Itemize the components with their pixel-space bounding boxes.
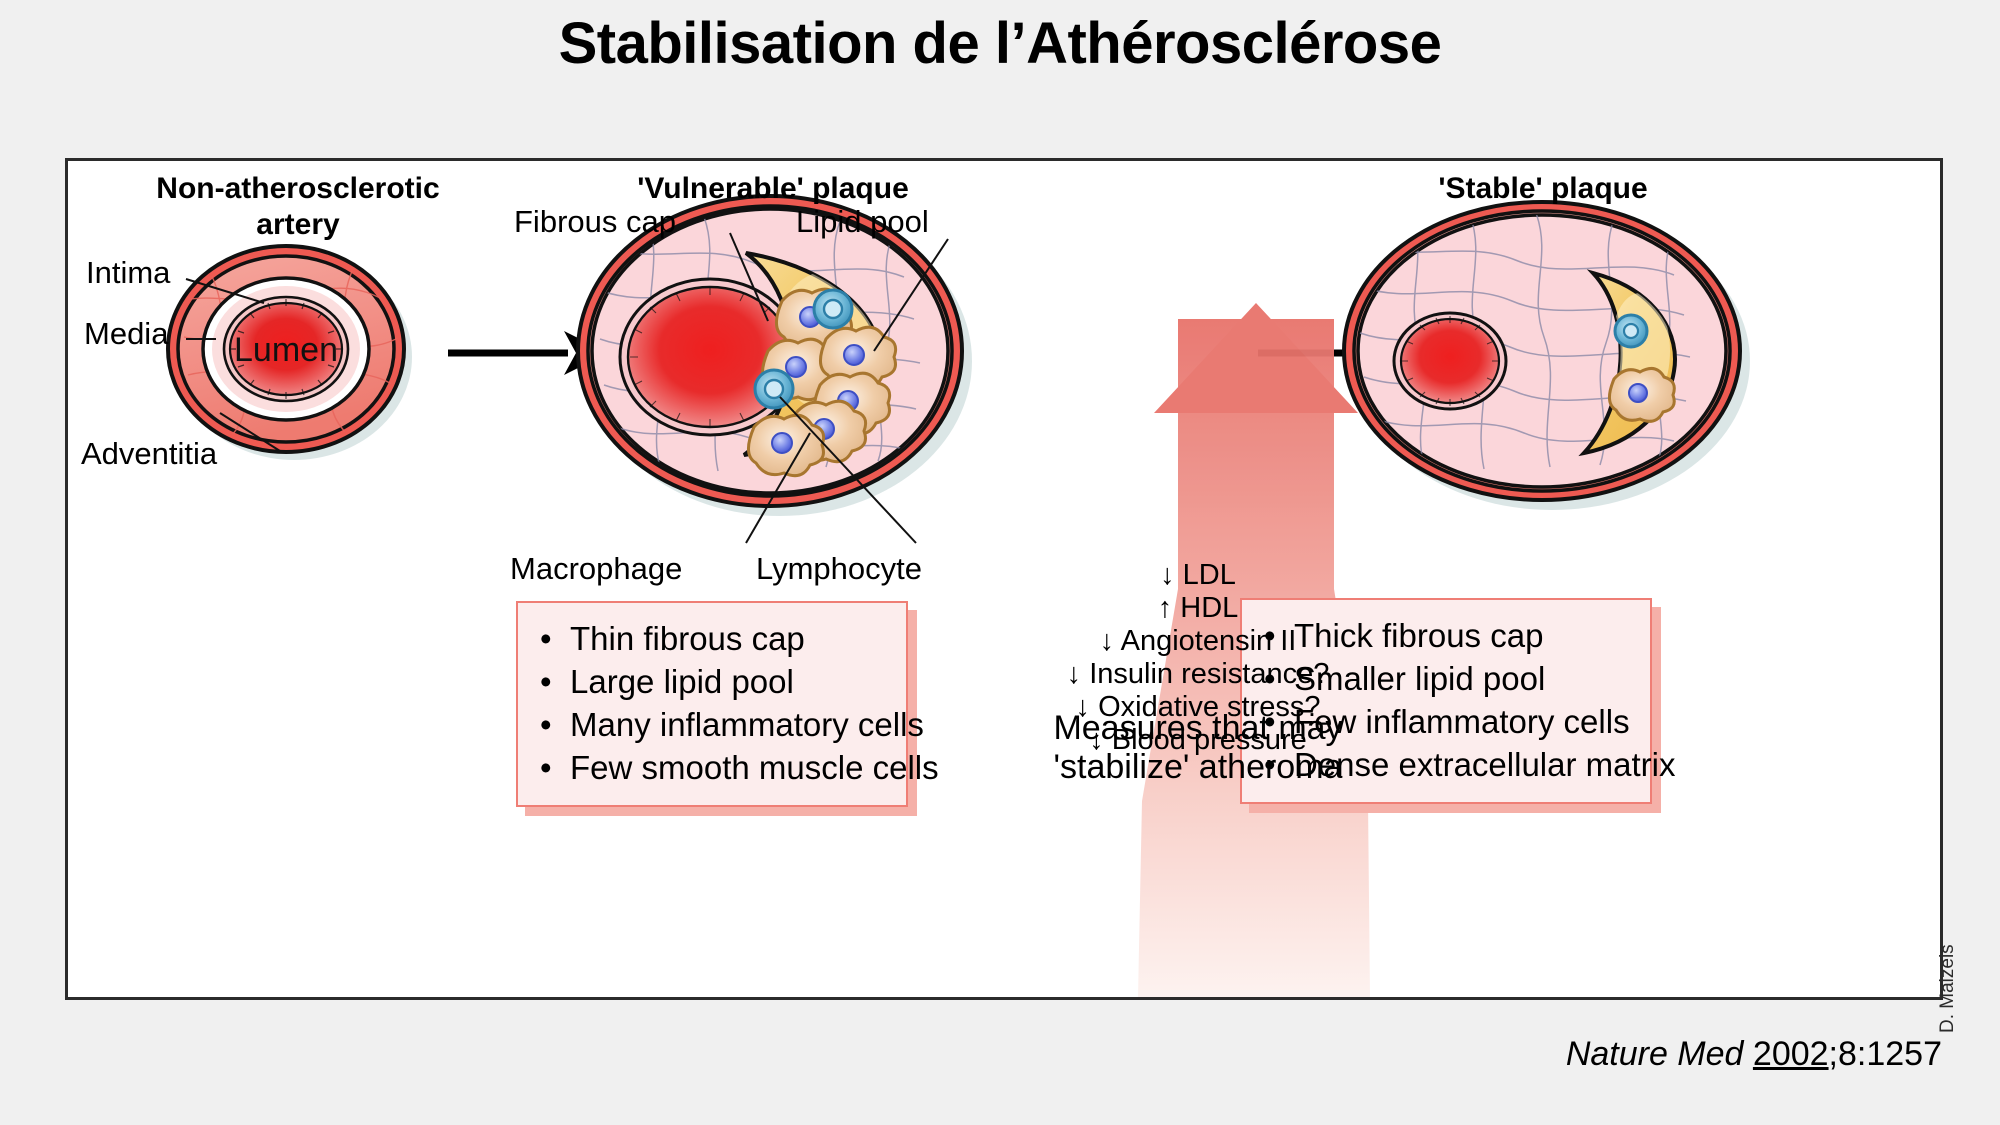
vulnerable-feature-list: Thin fibrous cap Large lipid pool Many i…: [540, 617, 884, 789]
label-adventitia: Adventitia: [81, 436, 217, 472]
citation: Nature Med 2002;8:1257: [1566, 1035, 1942, 1074]
panel-heading-normal-line2: artery: [256, 208, 339, 241]
citation-locator: ;8:1257: [1829, 1035, 1942, 1073]
citation-year: 2002: [1753, 1035, 1829, 1073]
list-item: Few smooth muscle cells: [540, 746, 884, 789]
label-lipid-pool: Lipid pool: [796, 204, 929, 240]
measure-line: ↑ HDL: [1028, 592, 1368, 625]
measure-line: ↓ Insulin resistance?: [1028, 658, 1368, 691]
stabilizing-measures-caption: Measures that may 'stabilize' atheroma: [1013, 709, 1383, 787]
measure-label: Insulin resistance?: [1089, 658, 1329, 690]
vulnerable-plaque-features-box: Thin fibrous cap Large lipid pool Many i…: [516, 601, 908, 807]
caption-line2: 'stabilize' atheroma: [1054, 748, 1343, 786]
measure-label: HDL: [1180, 592, 1238, 624]
citation-journal: Nature Med: [1566, 1035, 1753, 1073]
label-fibrous-cap: Fibrous cap: [514, 204, 676, 240]
label-intima: Intima: [86, 255, 170, 291]
measure-label: LDL: [1183, 559, 1236, 591]
down-arrow-icon: ↓: [1067, 658, 1082, 690]
svg-text:Lumen: Lumen: [234, 331, 338, 369]
panel-heading-normal-line1: Non-atherosclerotic: [156, 172, 439, 205]
down-arrow-icon: ↓: [1160, 559, 1175, 591]
panel-heading-stable: 'Stable' plaque: [1333, 171, 1753, 207]
panel-heading-normal: Non-atherosclerotic artery: [88, 171, 508, 243]
caption-line1: Measures that may: [1053, 709, 1342, 747]
list-item: Large lipid pool: [540, 660, 884, 703]
list-item: Many inflammatory cells: [540, 703, 884, 746]
label-lymphocyte: Lymphocyte: [756, 551, 922, 587]
artist-credit: D. Maizels: [1937, 944, 1959, 1033]
artery-cross-section-normal: Lumen: [168, 246, 412, 460]
measure-label: Angiotensin II: [1121, 625, 1297, 657]
measure-line: ↓ LDL: [1028, 559, 1368, 592]
figure-illustration: Lumen: [68, 161, 1940, 997]
panel-heading-vulnerable: 'Vulnerable' plaque: [563, 171, 983, 207]
page-title: Stabilisation de l’Athérosclérose: [0, 10, 2000, 77]
measure-line: ↓ Angiotensin II: [1028, 625, 1368, 658]
label-media: Media: [84, 316, 168, 352]
artery-cross-section-vulnerable: [578, 196, 972, 543]
label-macrophage: Macrophage: [510, 551, 682, 587]
artery-cross-section-stable: [1344, 202, 1750, 510]
up-arrow-icon: ↑: [1158, 592, 1173, 624]
figure-panel: Lumen: [65, 158, 1943, 1000]
down-arrow-icon: ↓: [1100, 625, 1115, 657]
list-item: Thin fibrous cap: [540, 617, 884, 660]
